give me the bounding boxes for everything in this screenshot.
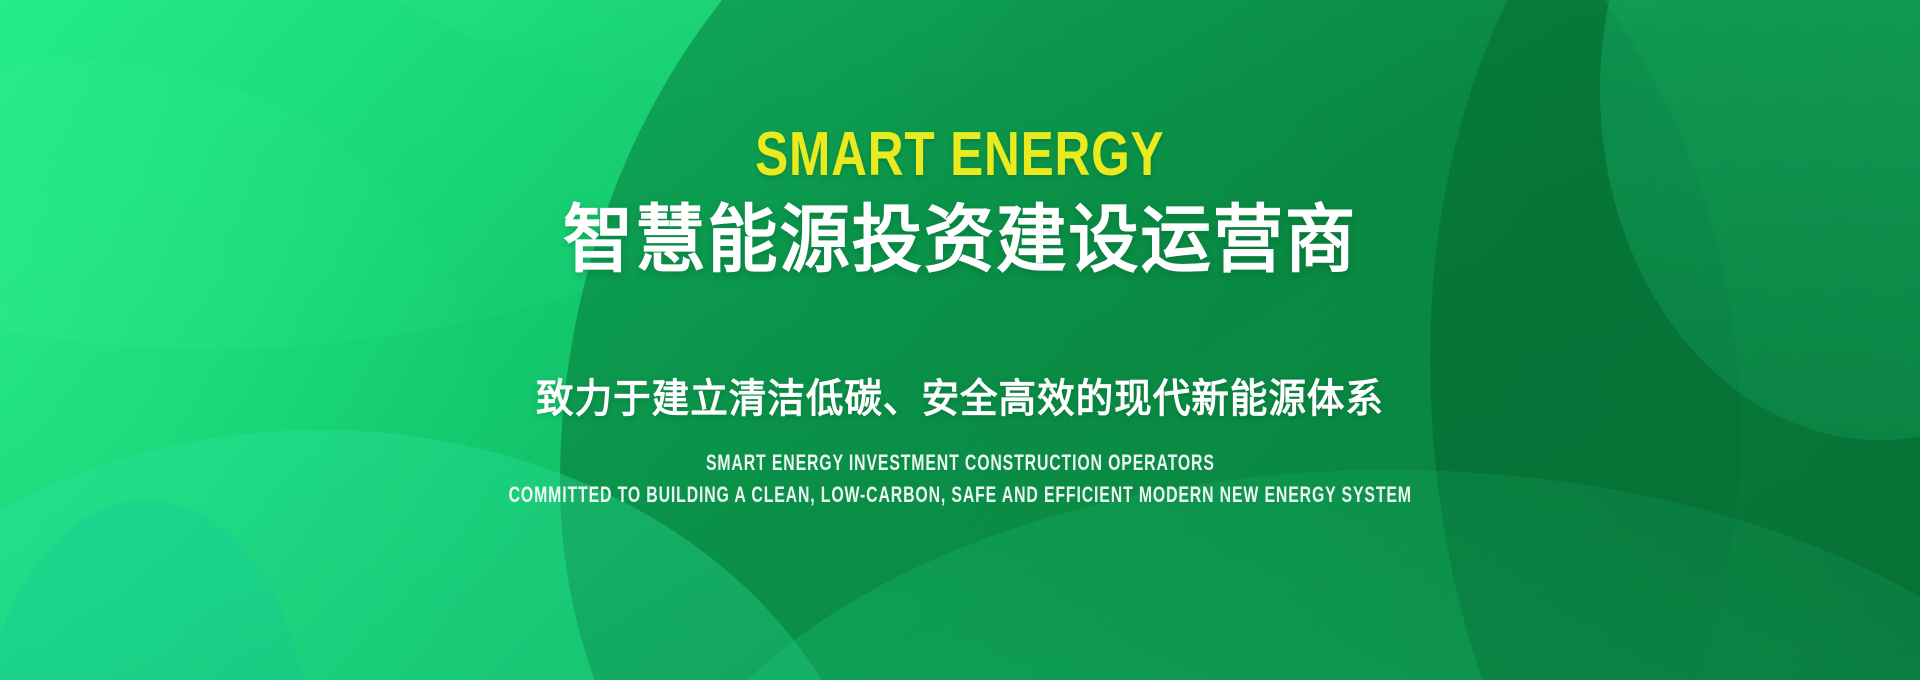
banner-title-chinese: 智慧能源投资建设运营商	[563, 200, 1357, 280]
banner-subtitle-chinese: 致力于建立清洁低碳、安全高效的现代新能源体系	[536, 375, 1384, 423]
banner-title-english: SMART ENERGY	[755, 124, 1164, 186]
hero-banner: SMART ENERGY 智慧能源投资建设运营商 致力于建立清洁低碳、安全高效的…	[0, 0, 1920, 680]
banner-subtitle-english-line1: SMART ENERGY INVESTMENT CONSTRUCTION OPE…	[706, 449, 1215, 477]
banner-subtitle-english-line2: COMMITTED TO BUILDING A CLEAN, LOW-CARBO…	[508, 481, 1411, 509]
banner-content: SMART ENERGY 智慧能源投资建设运营商 致力于建立清洁低碳、安全高效的…	[0, 0, 1920, 680]
